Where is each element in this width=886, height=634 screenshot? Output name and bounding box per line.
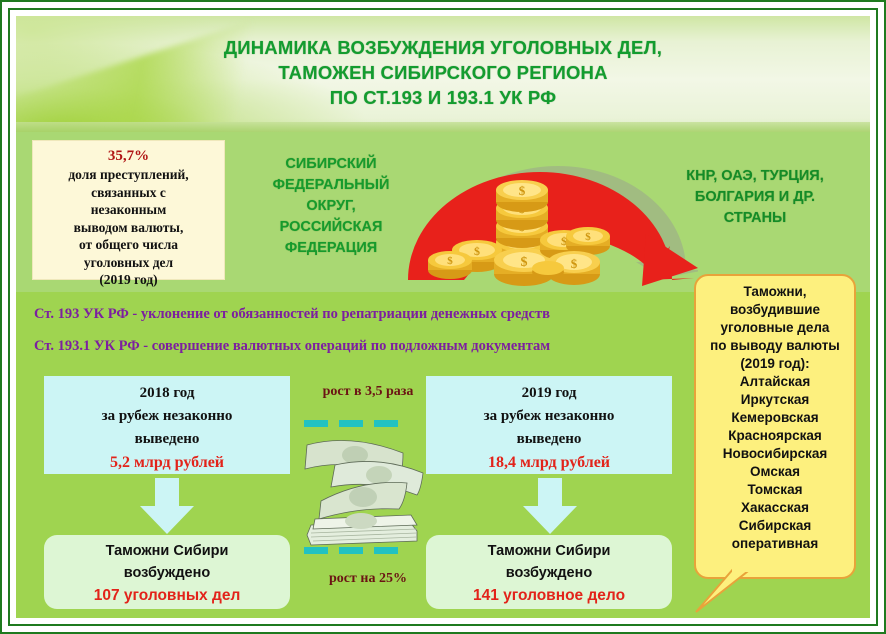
page-title: ДИНАМИКА ВОЗБУЖДЕНИЯ УГОЛОВНЫХ ДЕЛ, ТАМО… — [16, 16, 870, 110]
callout-head-3: уголовные дела — [700, 319, 850, 337]
callout-head-1: Таможни, — [700, 283, 850, 301]
year-2019-amount: 18,4 млрд рублей — [426, 451, 672, 475]
countries-line-3: СТРАНЫ — [650, 208, 860, 229]
percentage-line-4: выводом валюты, — [33, 219, 224, 237]
down-arrow-left-icon — [138, 478, 196, 534]
percentage-callout-box: 35,7% доля преступлений, связанных с нез… — [32, 140, 225, 280]
result-right-line-2: возбуждено — [426, 562, 672, 584]
svg-text:$: $ — [474, 244, 480, 258]
callout-head-4: по выводу валюты — [700, 337, 850, 355]
callout-tail-pointer — [694, 568, 754, 614]
article-193-text: Ст. 193 УК РФ - уклонение от обязанносте… — [34, 306, 550, 323]
poster-header: ДИНАМИКА ВОЗБУЖДЕНИЯ УГОЛОВНЫХ ДЕЛ, ТАМО… — [16, 16, 870, 132]
result-2018-box: Таможни Сибири возбуждено 107 уголовных … — [44, 535, 290, 609]
callout-item-altayskaya: Алтайская — [700, 373, 850, 391]
percentage-value: 35,7% — [33, 147, 224, 166]
callout-item-tomskaya: Томская — [700, 481, 850, 499]
dash-segment — [374, 420, 398, 427]
poster-canvas: ДИНАМИКА ВОЗБУЖДЕНИЯ УГОЛОВНЫХ ДЕЛ, ТАМО… — [16, 16, 870, 618]
percentage-line-7: (2019 год) — [33, 271, 224, 289]
result-right-value: 141 уголовное дело — [426, 584, 672, 608]
result-right-line-1: Таможни Сибири — [426, 540, 672, 562]
header-bottom-band — [16, 122, 870, 132]
article-193-1-text: Ст. 193.1 УК РФ - совершение валютных оп… — [34, 338, 550, 355]
title-line-1: ДИНАМИКА ВОЗБУЖДЕНИЯ УГОЛОВНЫХ ДЕЛ, — [16, 35, 870, 60]
percentage-line-5: от общего числа — [33, 236, 224, 254]
callout-item-krasnoyarskaya: Красноярская — [700, 427, 850, 445]
result-2019-box: Таможни Сибири возбуждено 141 уголовное … — [426, 535, 672, 609]
countries-line-2: БОЛГАРИЯ И ДР. — [650, 187, 860, 208]
year-2019-box: 2019 год за рубеж незаконно выведено 18,… — [426, 376, 672, 474]
title-line-3: ПО СТ.193 И 193.1 УК РФ — [16, 85, 870, 110]
year-2018-amount: 5,2 млрд рублей — [44, 451, 290, 475]
title-line-2: ТАМОЖЕН СИБИРСКОГО РЕГИОНА — [16, 60, 870, 85]
year-2018-line-3: выведено — [44, 428, 290, 451]
year-2019-line-2: за рубеж незаконно — [426, 405, 672, 428]
result-left-value: 107 уголовных дел — [44, 584, 290, 608]
percentage-line-6: уголовных дел — [33, 254, 224, 272]
destination-countries-label: КНР, ОАЭ, ТУРЦИЯ, БОЛГАРИЯ И ДР. СТРАНЫ — [650, 166, 860, 229]
top-content-band: 35,7% доля преступлений, связанных с нез… — [16, 132, 870, 292]
result-left-line-1: Таможни Сибири — [44, 540, 290, 562]
callout-head-5: (2019 год): — [700, 355, 850, 373]
dash-segment — [304, 420, 328, 427]
year-2018-box: 2018 год за рубеж незаконно выведено 5,2… — [44, 376, 290, 474]
region-line-1: СИБИРСКИЙ — [246, 154, 416, 175]
year-2019-line-3: выведено — [426, 428, 672, 451]
region-line-5: ФЕДЕРАЦИЯ — [246, 238, 416, 259]
source-region-label: СИБИРСКИЙ ФЕДЕРАЛЬНЫЙ ОКРУГ, РОССИЙСКАЯ … — [246, 154, 416, 259]
callout-item-operativnaya: оперативная — [700, 535, 850, 553]
dashed-connector-top — [304, 420, 398, 427]
region-line-2: ФЕДЕРАЛЬНЫЙ — [246, 175, 416, 196]
callout-item-khakasskaya: Хакасская — [700, 499, 850, 517]
year-2018-label: 2018 год — [44, 382, 290, 405]
svg-text:$: $ — [447, 255, 453, 267]
percentage-line-1: доля преступлений, — [33, 166, 224, 184]
svg-text:$: $ — [519, 183, 526, 198]
result-left-line-2: возбуждено — [44, 562, 290, 584]
countries-line-1: КНР, ОАЭ, ТУРЦИЯ, — [650, 166, 860, 187]
growth-cases-caption: рост на 25% — [303, 571, 433, 587]
svg-text:$: $ — [521, 255, 528, 270]
growth-amount-caption: рост в 3,5 раза — [303, 384, 433, 400]
banknotes-icon — [299, 431, 435, 559]
svg-text:$: $ — [571, 256, 578, 271]
svg-text:$: $ — [585, 231, 591, 243]
percentage-line-2: связанных с — [33, 184, 224, 202]
dash-segment — [339, 420, 363, 427]
down-arrow-right-icon — [521, 478, 579, 534]
callout-item-irkutskaya: Иркутская — [700, 391, 850, 409]
year-2019-label: 2019 год — [426, 382, 672, 405]
dollar-bills-graphic — [299, 431, 435, 559]
callout-item-omskaya: Омская — [700, 463, 850, 481]
callout-item-kemerovskaya: Кемеровская — [700, 409, 850, 427]
infographic-poster: ДИНАМИКА ВОЗБУЖДЕНИЯ УГОЛОВНЫХ ДЕЛ, ТАМО… — [0, 0, 886, 634]
region-line-4: РОССИЙСКАЯ — [246, 217, 416, 238]
customs-offices-callout: Таможни, возбудившие уголовные дела по в… — [694, 274, 856, 579]
region-line-3: ОКРУГ, — [246, 196, 416, 217]
percentage-line-3: незаконным — [33, 201, 224, 219]
callout-item-sibirskaya: Сибирская — [700, 517, 850, 535]
year-2018-line-2: за рубеж незаконно — [44, 405, 290, 428]
callout-head-2: возбудившие — [700, 301, 850, 319]
callout-item-novosibirskaya: Новосибирская — [700, 445, 850, 463]
